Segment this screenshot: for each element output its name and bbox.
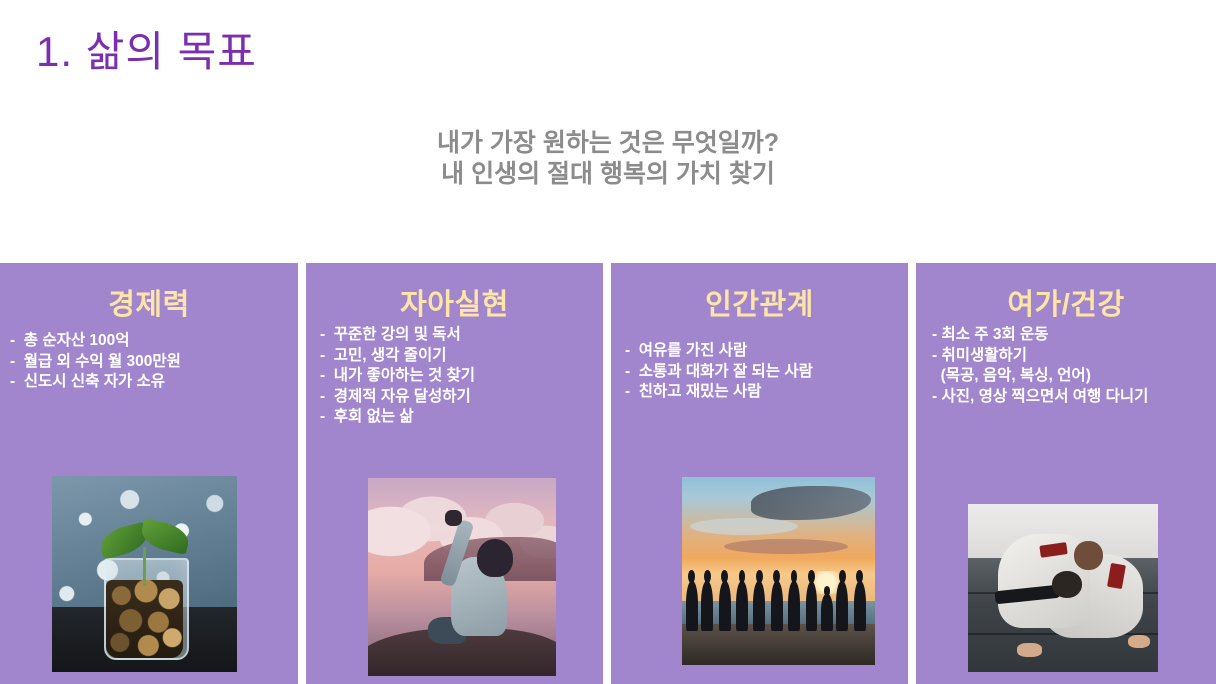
list-item: - 사진, 영상 찍으면서 여행 다니기 [932, 387, 1216, 408]
subtitle-block: 내가 가장 원하는 것은 무엇일까? 내 인생의 절대 행복의 가치 찾기 [0, 128, 1216, 190]
person-raising-fist-above-clouds-photo [368, 478, 556, 676]
subtitle-line-1: 내가 가장 원하는 것은 무엇일까? [0, 128, 1216, 159]
column-heading: 여가/건강 [916, 281, 1216, 323]
child-silhouette [821, 594, 833, 631]
list-item: - 내가 좋아하는 것 찾기 [320, 366, 603, 387]
athlete-head-shape [1074, 541, 1103, 570]
column-heading: 경제력 [0, 281, 298, 323]
list-item: - 취미생활하기 [932, 346, 1216, 367]
column-bullet-list: - 총 순자산 100억 - 월급 외 수익 월 300만원 - 신도시 신축 … [0, 331, 298, 393]
list-item: - 신도시 신축 자가 소유 [10, 372, 298, 393]
subtitle-line-2: 내 인생의 절대 행복의 가치 찾기 [0, 159, 1216, 190]
column-heading: 자아실현 [306, 281, 603, 323]
person-silhouette [686, 581, 698, 631]
person-hood-shape [477, 539, 513, 577]
column-bullet-list: - 꾸준한 강의 및 독서 - 고민, 생각 줄이기 - 내가 좋아하는 것 찾… [306, 325, 603, 428]
person-silhouette [736, 581, 748, 631]
list-item: - 월급 외 수익 월 300만원 [10, 352, 298, 373]
person-silhouette [771, 581, 783, 631]
list-item: - 여유를 가진 사람 [625, 341, 908, 362]
person-silhouette [719, 581, 731, 631]
two-athletes-grappling-photo [968, 504, 1158, 672]
column-bullet-list: - 최소 주 3회 운동 - 취미생활하기 (목공, 음악, 복싱, 언어) -… [916, 325, 1216, 407]
person-fist-shape [445, 510, 462, 526]
person-silhouette [753, 581, 765, 631]
list-item: - 소통과 대화가 잘 되는 사람 [625, 362, 908, 383]
people-silhouettes-group [682, 567, 875, 631]
person-silhouette [854, 581, 866, 631]
list-item: - 후회 없는 삶 [320, 407, 603, 428]
athlete-head-shape [1052, 571, 1082, 598]
list-item: - 친하고 재밌는 사람 [625, 382, 908, 403]
person-silhouette [806, 581, 818, 631]
person-silhouette [788, 581, 800, 631]
list-item: - 총 순자산 100억 [10, 331, 298, 352]
person-silhouette [701, 581, 713, 631]
cloud-shape [724, 539, 848, 554]
page-title: 1. 삶의 목표 [36, 18, 257, 79]
athlete-hand-shape [1128, 635, 1151, 648]
list-item: (목공, 음악, 복싱, 언어) [932, 366, 1216, 387]
list-item: - 최소 주 3회 운동 [932, 325, 1216, 346]
coins-shape [106, 580, 184, 658]
person-silhouette [836, 581, 848, 631]
athlete-hand-shape [1017, 643, 1042, 656]
list-item: - 경제적 자유 달성하기 [320, 387, 603, 408]
column-bullet-list: - 여유를 가진 사람 - 소통과 대화가 잘 되는 사람 - 친하고 재밌는 … [611, 341, 908, 403]
plant-stem-shape [143, 547, 146, 586]
column-heading: 인간관계 [611, 281, 908, 323]
list-item: - 고민, 생각 줄이기 [320, 346, 603, 367]
coins-in-jar-with-sprout-photo [52, 476, 237, 672]
list-item: - 꾸준한 강의 및 독서 [320, 325, 603, 346]
people-holding-hands-at-sunset-photo [682, 477, 875, 665]
